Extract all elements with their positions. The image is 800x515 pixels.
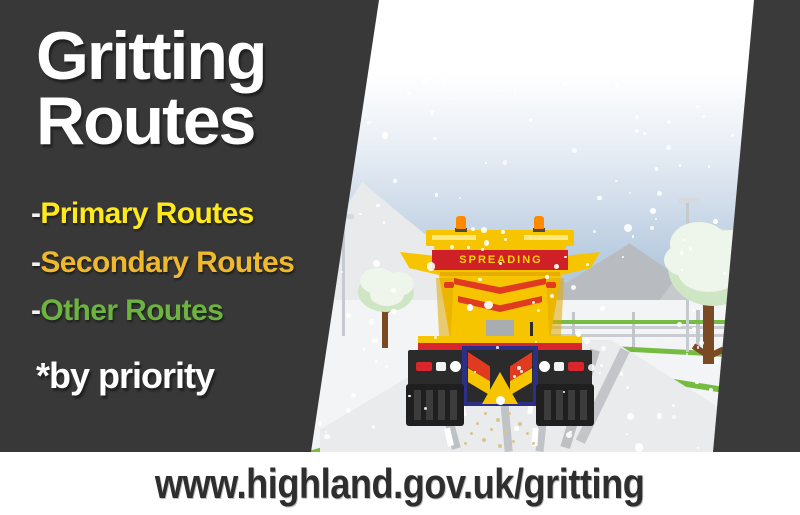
taillight-red-right <box>568 362 584 371</box>
snowflake <box>627 5 630 8</box>
grit-particle-1 <box>484 412 487 415</box>
snowflake <box>433 21 436 24</box>
snowflake <box>503 160 507 164</box>
legend-item-secondary: -Secondary Routes <box>31 239 371 288</box>
snowflake <box>484 59 492 67</box>
snowflake <box>571 285 576 290</box>
snowflake <box>324 434 330 440</box>
snowflake <box>425 42 428 45</box>
snowflake <box>742 75 746 79</box>
title-line-1: Gritting <box>36 24 366 89</box>
snowflake <box>591 83 593 85</box>
guardrail-post-3 <box>632 312 635 348</box>
snowflake <box>657 413 663 419</box>
lamp-bar-lights-right <box>524 235 568 240</box>
snowflake <box>563 83 567 87</box>
website-url[interactable]: www.highland.gov.uk/gritting <box>155 460 645 508</box>
grit-particle-13 <box>464 442 467 445</box>
snowflake <box>391 288 396 293</box>
snowflake <box>517 366 521 370</box>
snowflake <box>373 260 380 267</box>
snowflake <box>430 111 434 115</box>
beacon-left <box>456 216 466 229</box>
priority-note: *by priority <box>36 355 214 397</box>
grit-particle-5 <box>518 422 522 426</box>
snowflake <box>391 309 396 314</box>
snowflake <box>699 341 704 346</box>
grit-particle-4 <box>476 422 479 425</box>
grit-particle-10 <box>482 438 486 442</box>
grit-particle-9 <box>526 432 529 435</box>
snowflake <box>597 196 602 201</box>
page-title: Gritting Routes <box>36 24 366 155</box>
grit-particle-3 <box>508 412 511 415</box>
legend-label-other: Other Routes <box>40 294 223 327</box>
grit-particle-2 <box>496 418 500 422</box>
grit-particle-6 <box>490 428 493 431</box>
snowflake <box>655 167 658 170</box>
legend-dash-primary: - <box>31 197 40 230</box>
wheel-tread-right-b <box>556 390 563 420</box>
snowflake <box>496 346 499 349</box>
snowflake <box>514 426 518 430</box>
wheel-tread-left-c <box>438 390 445 420</box>
beacon-right <box>534 216 544 229</box>
snowflake <box>600 306 605 311</box>
snowflake <box>546 52 550 56</box>
grit-particle-7 <box>504 430 508 434</box>
snowflake <box>514 92 517 95</box>
snowflake <box>700 44 703 47</box>
grit-particle-11 <box>512 440 515 443</box>
snowflake <box>666 145 671 150</box>
rear-bar-yellow <box>418 336 582 343</box>
snowflake <box>650 226 654 230</box>
route-legend-list: -Primary Routes -Secondary Routes -Other… <box>31 190 371 336</box>
snowflake <box>532 301 535 304</box>
snowflake <box>558 47 562 51</box>
gritter-lorry: SPREADING <box>400 222 600 427</box>
snowflake <box>632 235 635 238</box>
wheel-tread-right-c <box>568 390 575 420</box>
snowflake <box>449 98 451 100</box>
snowflake <box>697 447 699 449</box>
snowflake <box>497 90 499 92</box>
snowflake <box>655 218 657 220</box>
snowflake <box>724 66 730 72</box>
snowflake <box>427 262 436 271</box>
snowflake <box>672 415 676 419</box>
snowflake <box>667 120 671 124</box>
wheel-tread-right-a <box>544 390 551 420</box>
snowflake <box>689 247 692 250</box>
wheel-tread-left-a <box>414 390 421 420</box>
snowflake <box>382 132 389 139</box>
snowflake <box>714 359 719 364</box>
snowflake <box>723 272 726 275</box>
tree-snow-right-4 <box>664 244 706 276</box>
tree-snow-left-3 <box>370 284 404 306</box>
legend-dash-other: - <box>31 294 40 327</box>
snowflake <box>550 294 554 298</box>
taillight-white-right <box>554 362 564 371</box>
poster-root: SPREADING <box>0 0 800 515</box>
title-line-2: Routes <box>36 89 366 154</box>
snowflake <box>537 309 540 312</box>
snowflake <box>683 239 685 241</box>
taillight-clear-left <box>450 361 461 372</box>
snowflake <box>626 386 629 389</box>
snowflake <box>474 371 476 373</box>
snowflake <box>685 77 688 80</box>
snowflake <box>484 240 489 245</box>
grit-particle-12 <box>498 444 502 448</box>
snowflake <box>545 275 549 279</box>
legend-dash-secondary: - <box>31 246 40 279</box>
snowflake <box>422 78 429 85</box>
footer-bar: www.highland.gov.uk/gritting <box>0 452 800 515</box>
lamp-bar-lights-left <box>432 235 476 240</box>
snowflake <box>635 129 639 133</box>
taillight-clear-right <box>539 361 550 372</box>
spinner-hub <box>496 396 505 405</box>
snowflake <box>635 443 644 452</box>
legend-item-other: -Other Routes <box>31 287 371 336</box>
snowflake <box>692 327 696 331</box>
snowflake <box>433 137 437 141</box>
snowflake <box>367 121 370 124</box>
wheel-tread-left-b <box>426 390 433 420</box>
legend-label-primary: Primary Routes <box>40 197 253 230</box>
grit-particle-14 <box>532 442 535 445</box>
snowflake <box>504 238 507 241</box>
snowflake <box>699 15 704 20</box>
snowflake <box>318 421 323 426</box>
taillight-white-left <box>436 362 446 371</box>
snowflake <box>615 83 619 87</box>
sign-underlights <box>440 272 560 276</box>
legend-label-secondary: Secondary Routes <box>40 246 294 279</box>
streetlight-head-right <box>678 198 699 203</box>
snowflake <box>709 388 713 392</box>
snowflake <box>586 263 589 266</box>
snowflake <box>672 404 675 407</box>
hopper-sidelight-left <box>444 282 454 288</box>
snowflake <box>635 115 639 119</box>
snowflake <box>554 264 559 269</box>
snowflake <box>620 372 624 376</box>
snowflake <box>657 191 662 196</box>
legend-item-primary: -Primary Routes <box>31 190 371 239</box>
wheel-tread-right-d <box>580 390 587 420</box>
hopper-sidelight-right <box>546 282 556 288</box>
taillight-red-left <box>416 362 432 371</box>
snowflake <box>695 381 698 384</box>
wheel-tread-left-d <box>450 390 457 420</box>
snowflake <box>481 227 487 233</box>
snowflake <box>702 115 705 118</box>
snowflake <box>713 219 718 224</box>
grit-particle-8 <box>470 432 473 435</box>
snowflake <box>443 79 447 83</box>
